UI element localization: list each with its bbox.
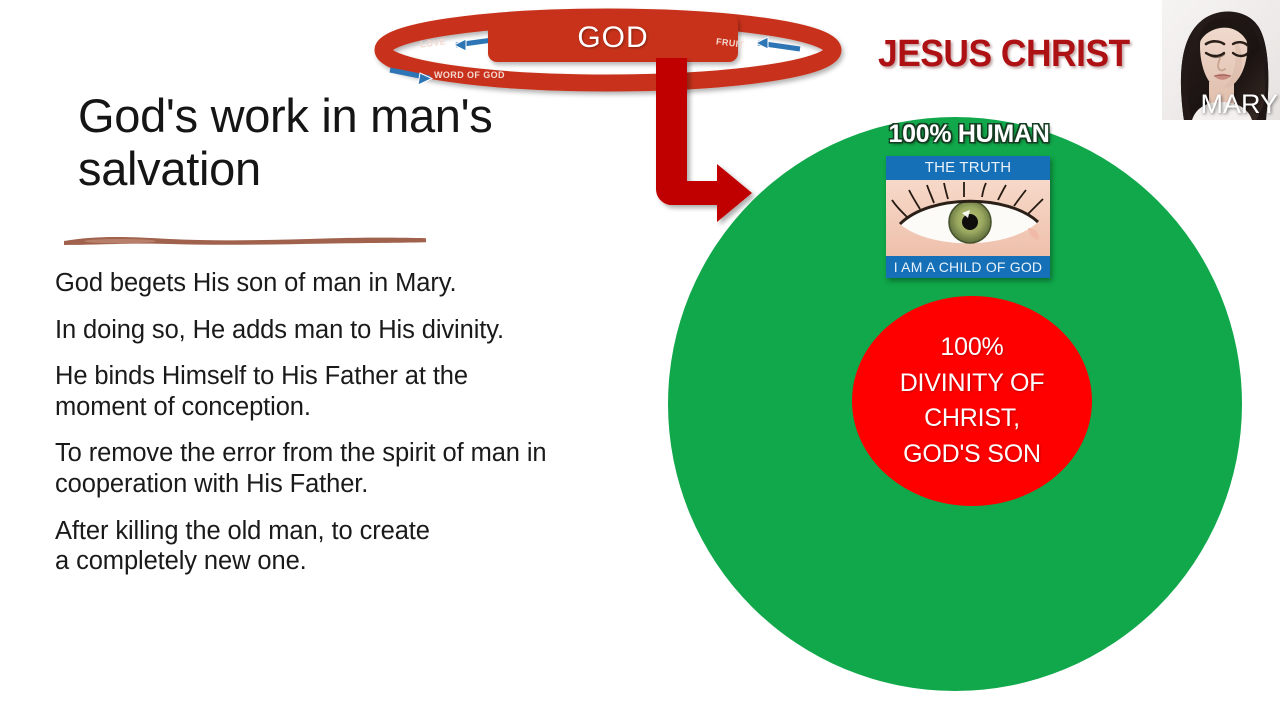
jesus-christ-heading: JESUS CHRIST [878,33,1130,76]
god-ring-diagram: GOD LOVE FRUIT WORD OF GOD [368,2,848,102]
divinity-line: DIVINITY OF [900,366,1045,402]
eye-card-bottom-label: I AM A CHILD OF GOD [886,256,1050,278]
slide-canvas: God's work in man's salvation God begets… [0,0,1280,720]
mary-portrait-photo: MARY [1162,0,1280,120]
body-line: To remove the error from the spirit of m… [55,438,665,499]
body-line: God begets His son of man in Mary. [55,268,665,299]
divinity-ellipse: 100% DIVINITY OF CHRIST, GOD'S SON [852,296,1092,506]
eye-card-top-label: THE TRUTH [886,156,1050,180]
word-of-god-arrow-icon [390,70,432,85]
brush-stroke-icon [60,228,430,250]
human-percentage-label: 100% HUMAN [884,120,1054,149]
divinity-line: GOD'S SON [903,437,1041,473]
mary-label: MARY [1200,89,1278,120]
body-line: After killing the old man, to create a c… [55,516,665,577]
body-text-block: God begets His son of man in Mary. In do… [55,268,665,593]
eye-illustration-icon [886,180,1050,256]
god-label: GOD [577,21,648,55]
divinity-line: CHRIST, [924,401,1020,437]
green-eye-photo [886,180,1050,256]
god-bar[interactable]: GOD [488,14,738,62]
fruit-arrow-icon [756,37,800,49]
body-line: In doing so, He adds man to His divinity… [55,315,665,346]
body-line: He binds Himself to His Father at the mo… [55,361,665,422]
truth-eye-card[interactable]: THE TRUTH [886,156,1050,278]
ring-label-word-of-god: WORD OF GOD [434,70,505,80]
page-title: God's work in man's salvation [78,90,598,195]
title-block: God's work in man's salvation [78,90,598,195]
divider [60,228,430,250]
divinity-line: 100% [940,330,1003,366]
